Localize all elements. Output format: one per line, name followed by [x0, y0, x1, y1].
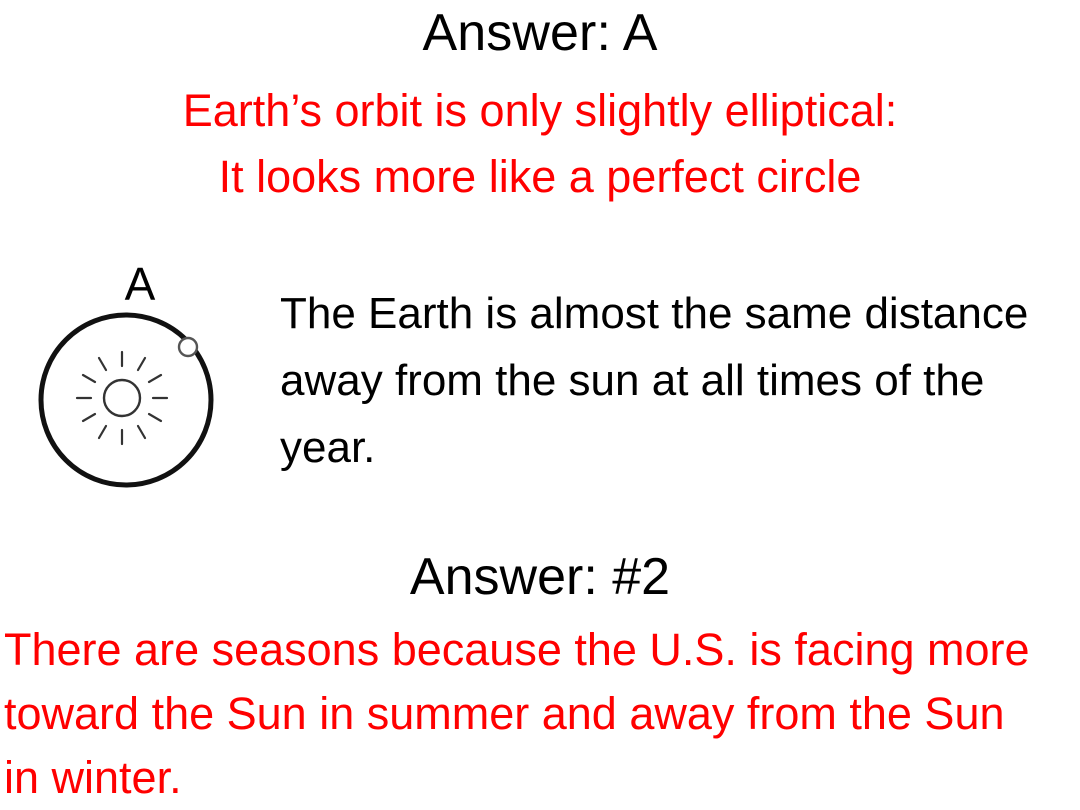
- orbit-diagram-label: A: [100, 258, 180, 310]
- seasons-paragraph: There are seasons because the U.S. is fa…: [4, 618, 1034, 810]
- orbit-note-line-2: It looks more like a perfect circle: [0, 144, 1080, 210]
- slide-canvas: Answer: A Earth’s orbit is only slightly…: [0, 0, 1080, 810]
- answer-2-heading: Answer: #2: [0, 546, 1080, 608]
- earth-distance-paragraph: The Earth is almost the same distance aw…: [280, 280, 1032, 481]
- orbit-note-line-1: Earth’s orbit is only slightly elliptica…: [0, 78, 1080, 144]
- orbit-diagram: A: [22, 258, 252, 493]
- answer-a-heading: Answer: A: [0, 2, 1080, 64]
- earth-dot-icon: [179, 338, 197, 356]
- sun-icon: [77, 352, 167, 444]
- orbit-note: Earth’s orbit is only slightly elliptica…: [0, 78, 1080, 210]
- orbit-illustration: [22, 310, 252, 490]
